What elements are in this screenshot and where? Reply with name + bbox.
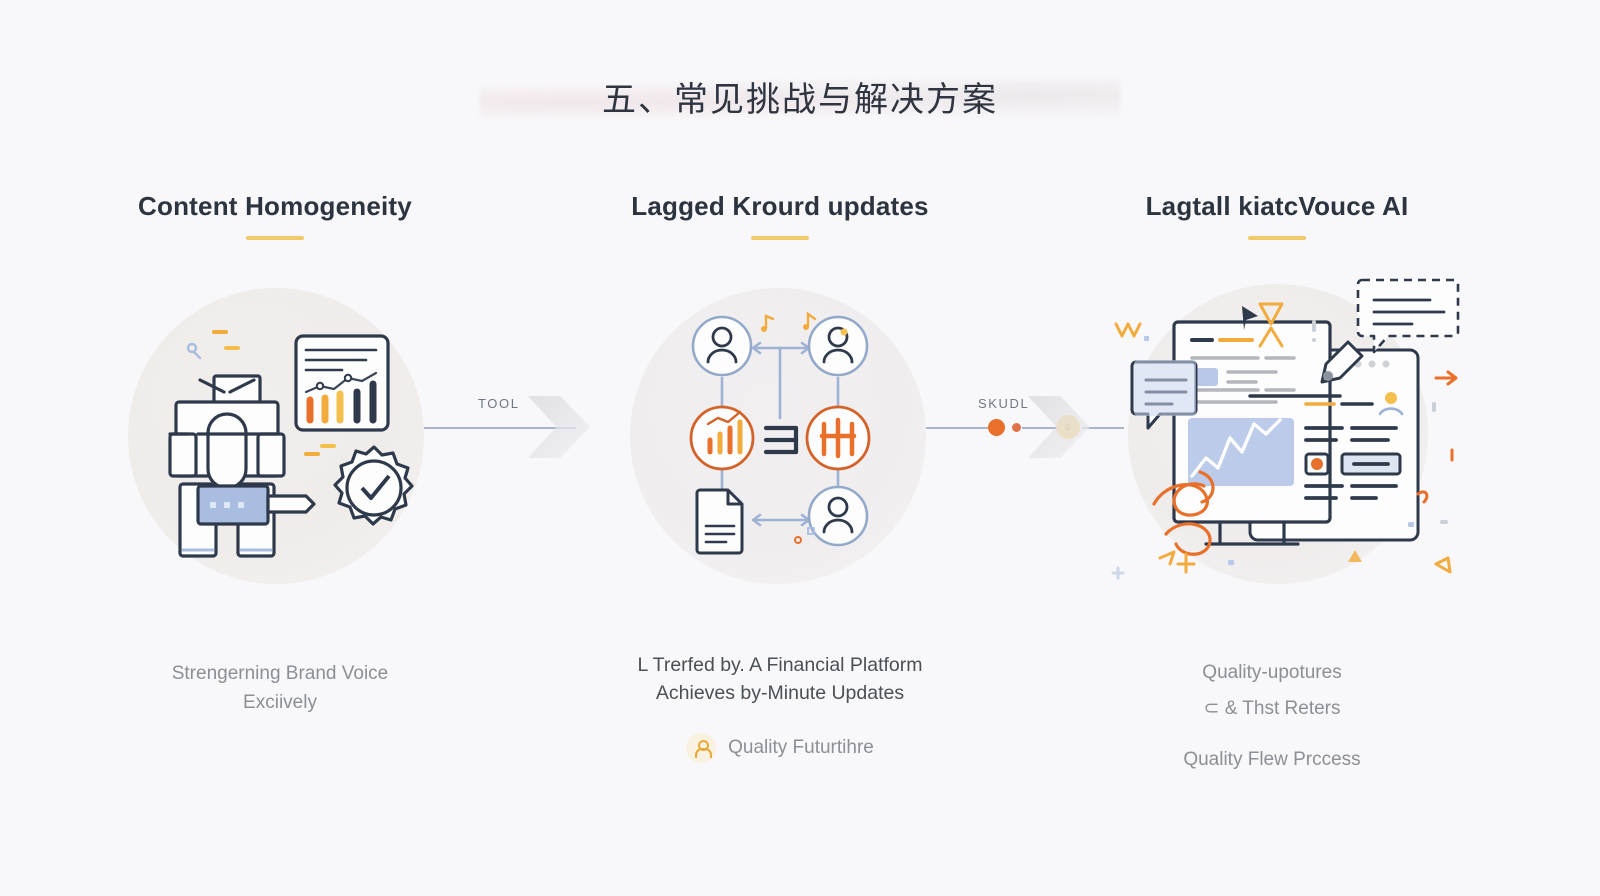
caption-3-line-3: Quality Flew Prccess <box>1062 745 1482 774</box>
column-3-underline <box>1248 236 1306 240</box>
slide-canvas: 五、常见挑战与解决方案 Content Homogeneity Lagged K… <box>0 0 1600 896</box>
connector-dot-small <box>1012 423 1021 432</box>
caption-2-line-1: L Trerfed by. A Financial Platform <box>570 651 990 679</box>
column-2-title: Lagged Krourd updates <box>570 190 990 222</box>
column-heading-1: Content Homogeneity <box>65 190 485 240</box>
connector-rail-2b <box>1022 427 1058 429</box>
caption-column-3-secondary: Quality Flew Prccess <box>1062 745 1482 774</box>
title-area: 五、常见挑战与解决方案 <box>0 72 1600 121</box>
person-badge-icon <box>686 733 716 763</box>
connector-rail-1 <box>424 427 576 429</box>
connector-label-1: TOOL <box>478 396 520 411</box>
connector-dot-large <box>988 419 1005 436</box>
illustration-lagged-updates <box>630 288 930 588</box>
caption-3-line-1: Quality-upotures <box>1062 655 1482 691</box>
column-1-underline <box>246 236 304 240</box>
illustration-ai-dashboard <box>1100 272 1460 592</box>
person-badge-glyph <box>695 740 708 756</box>
quality-badge-row: Quality Futurtihre <box>570 733 990 763</box>
page-title: 五、常见挑战与解决方案 <box>0 72 1600 121</box>
caption-column-1: Strengerning Brand Voice Exciively <box>70 659 490 717</box>
caption-column-3: Quality-upotures ⊂ & Thst Reters <box>1062 655 1482 727</box>
column-heading-2: Lagged Krourd updates <box>570 190 990 240</box>
column-2-underline <box>751 236 809 240</box>
quality-badge-label: Quality Futurtihre <box>728 737 874 759</box>
caption-3-line-2: ⊂ & Thst Reters <box>1062 691 1482 727</box>
caption-column-2: L Trerfed by. A Financial Platform Achie… <box>570 651 990 707</box>
column-3-title: Lagtall kiatcVouce AI <box>1067 190 1487 222</box>
column-heading-3: Lagtall kiatcVouce AI <box>1067 190 1487 240</box>
caption-1-line-2: Exciively <box>70 688 490 717</box>
column-1-title: Content Homogeneity <box>65 190 485 222</box>
caption-1-line-1: Strengerning Brand Voice <box>70 659 490 688</box>
illustration-content-homogeneity <box>128 288 428 588</box>
connector-label-2: SKUDL <box>978 396 1029 411</box>
caption-2-line-2: Achieves by-Minute Updates <box>570 679 990 707</box>
